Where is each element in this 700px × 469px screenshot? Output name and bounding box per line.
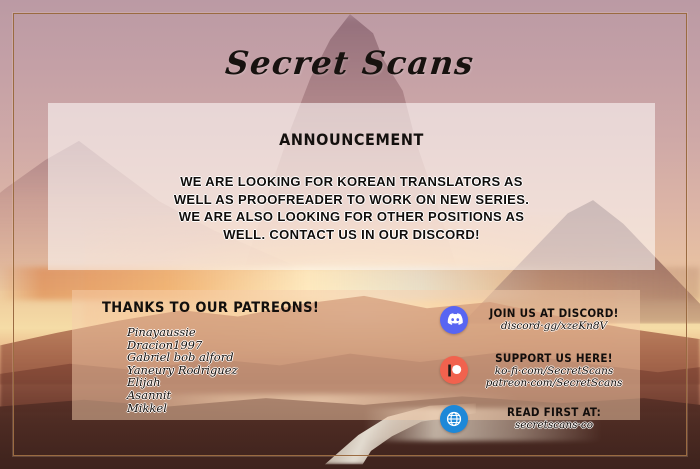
kofi-link-url[interactable]: ko-fi·com/SecretScans <box>472 365 636 377</box>
list-item: Asannit <box>127 389 238 402</box>
links-column: JOIN US AT DISCORD! discord·gg/xzeKn8V S… <box>440 298 636 438</box>
discord-link-text: JOIN US AT DISCORD! discord·gg/xzeKn8V <box>468 307 636 332</box>
announcement-page: Secret Scans ANNOUNCEMENT WE ARE LOOKING… <box>0 0 700 469</box>
support-link-text: SUPPORT US HERE! ko-fi·com/SecretScans p… <box>468 352 636 389</box>
discord-icon[interactable] <box>440 306 468 334</box>
list-item: Pinayaussie <box>127 326 238 339</box>
list-item: Mikkel <box>127 402 238 415</box>
discord-link-row[interactable]: JOIN US AT DISCORD! discord·gg/xzeKn8V <box>440 300 636 339</box>
globe-icon[interactable] <box>440 405 468 433</box>
support-link-title: SUPPORT US HERE! <box>472 352 636 365</box>
patrons-list: Pinayaussie Dracion1997 Gabriel bob alfo… <box>127 326 238 414</box>
website-link-text: READ FIRST AT: secretscans·co <box>468 406 636 431</box>
page-title: Secret Scans <box>0 44 700 82</box>
support-link-row[interactable]: SUPPORT US HERE! ko-fi·com/SecretScans p… <box>440 347 636 393</box>
announcement-panel: ANNOUNCEMENT WE ARE LOOKING FOR KOREAN T… <box>48 103 655 270</box>
discord-link-url[interactable]: discord·gg/xzeKn8V <box>472 320 636 332</box>
credits-panel: THANKS TO OUR PATREONS! Pinayaussie Drac… <box>72 290 640 420</box>
website-link-title: READ FIRST AT: <box>472 406 636 419</box>
announcement-line: WE ARE ALSO LOOKING FOR OTHER POSITIONS … <box>48 208 655 226</box>
announcement-body: WE ARE LOOKING FOR KOREAN TRANSLATORS AS… <box>48 173 655 243</box>
announcement-line: WE ARE LOOKING FOR KOREAN TRANSLATORS AS <box>48 173 655 191</box>
patreon-icon[interactable] <box>440 356 468 384</box>
announcement-line: WELL AS PROOFREADER TO WORK ON NEW SERIE… <box>48 191 655 209</box>
announcement-line: WELL. CONTACT US IN OUR DISCORD! <box>48 226 655 244</box>
website-link-row[interactable]: READ FIRST AT: secretscans·co <box>440 399 636 438</box>
website-link-url[interactable]: secretscans·co <box>472 419 636 431</box>
announcement-heading: ANNOUNCEMENT <box>48 130 655 149</box>
discord-link-title: JOIN US AT DISCORD! <box>472 307 636 320</box>
list-item: Gabriel bob alford <box>127 351 238 364</box>
patrons-heading: THANKS TO OUR PATREONS! <box>102 300 319 316</box>
patreon-link-url[interactable]: patreon·com/SecretScans <box>472 377 636 389</box>
